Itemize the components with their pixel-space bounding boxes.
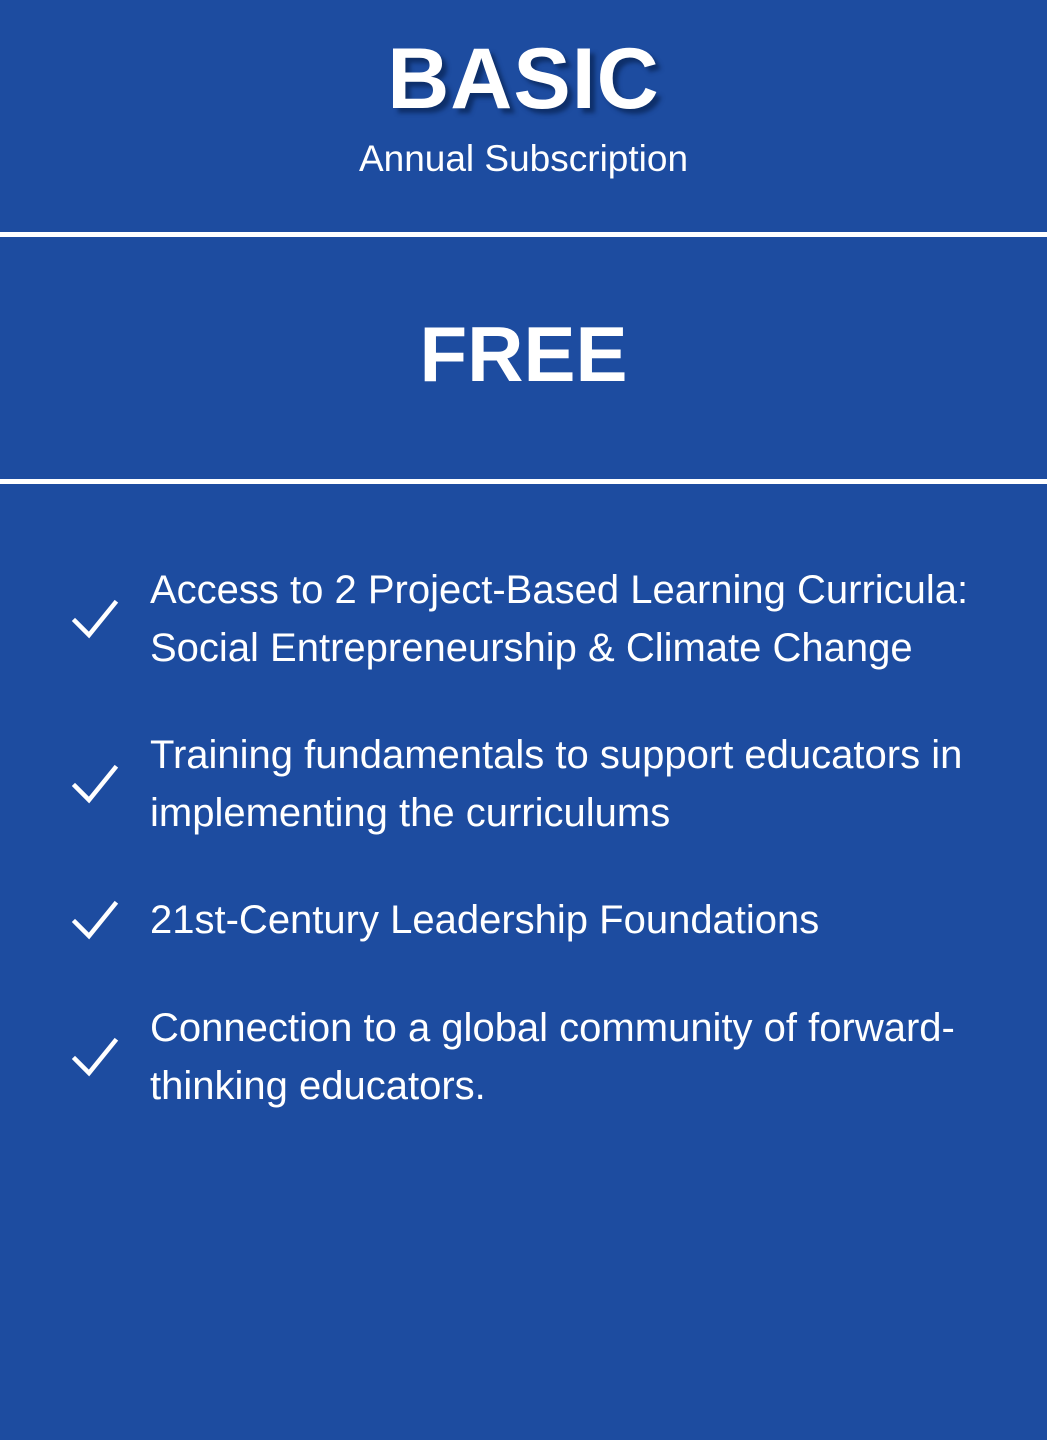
card-header: BASIC Annual Subscription [0, 0, 1047, 232]
pricing-card-basic: BASIC Annual Subscription FREE Access to… [0, 0, 1047, 1440]
price-amount: FREE [419, 315, 627, 401]
feature-item: Training fundamentals to support educato… [60, 727, 987, 842]
check-icon [60, 1032, 130, 1084]
feature-text: Access to 2 Project-Based Learning Curri… [130, 562, 987, 677]
check-icon [60, 759, 130, 811]
feature-item: Access to 2 Project-Based Learning Curri… [60, 562, 987, 677]
plan-billing-period: Annual Subscription [359, 139, 688, 180]
features-list: Access to 2 Project-Based Learning Curri… [0, 484, 1047, 1440]
feature-text: Connection to a global community of forw… [130, 1000, 987, 1115]
check-icon [60, 895, 130, 947]
feature-item: Connection to a global community of forw… [60, 1000, 987, 1115]
check-icon [60, 594, 130, 646]
price-section: FREE [0, 237, 1047, 479]
plan-title: BASIC [387, 34, 660, 125]
feature-text: Training fundamentals to support educato… [130, 727, 987, 842]
feature-item: 21st-Century Leadership Foundations [60, 892, 987, 950]
feature-text: 21st-Century Leadership Foundations [130, 892, 987, 950]
